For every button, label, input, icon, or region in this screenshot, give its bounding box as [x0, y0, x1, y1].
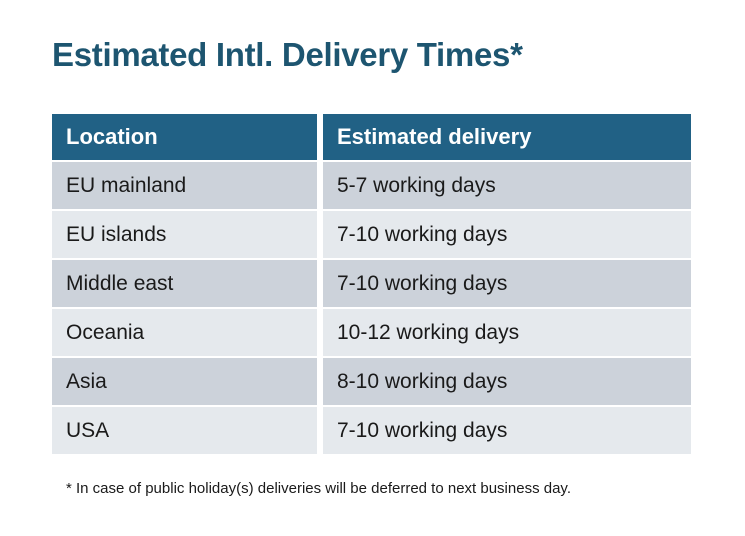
table-row: Middle east 7-10 working days — [52, 260, 691, 307]
cell-location: USA — [52, 407, 317, 454]
cell-estimated-delivery: 7-10 working days — [323, 211, 691, 258]
page-title: Estimated Intl. Delivery Times* — [52, 36, 523, 74]
cell-location: Middle east — [52, 260, 317, 307]
footnote-text: * In case of public holiday(s) deliverie… — [66, 480, 571, 497]
cell-location: Asia — [52, 358, 317, 405]
table-row: EU islands 7-10 working days — [52, 211, 691, 258]
cell-estimated-delivery: 5-7 working days — [323, 162, 691, 209]
cell-estimated-delivery: 7-10 working days — [323, 260, 691, 307]
cell-location: EU mainland — [52, 162, 317, 209]
table-row: Asia 8-10 working days — [52, 358, 691, 405]
delivery-times-table: Location Estimated delivery EU mainland … — [52, 114, 691, 456]
cell-estimated-delivery: 7-10 working days — [323, 407, 691, 454]
cell-estimated-delivery: 8-10 working days — [323, 358, 691, 405]
table-header-row: Location Estimated delivery — [52, 114, 691, 160]
column-header-location: Location — [52, 114, 317, 160]
cell-estimated-delivery: 10-12 working days — [323, 309, 691, 356]
table-row: EU mainland 5-7 working days — [52, 162, 691, 209]
cell-location: EU islands — [52, 211, 317, 258]
cell-location: Oceania — [52, 309, 317, 356]
table-row: USA 7-10 working days — [52, 407, 691, 454]
table-row: Oceania 10-12 working days — [52, 309, 691, 356]
column-header-estimated-delivery: Estimated delivery — [323, 114, 691, 160]
delivery-times-page: Estimated Intl. Delivery Times* Location… — [0, 0, 745, 536]
